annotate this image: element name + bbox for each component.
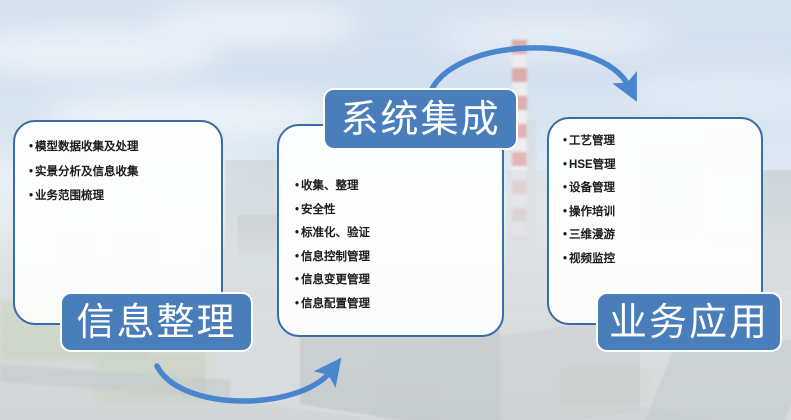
list-item: 视频监控 — [563, 254, 761, 266]
list-item: 操作培训 — [563, 207, 761, 219]
application-item-list: 工艺管理 HSE管理 设备管理 操作培训 三维漫游 视频监控 — [549, 119, 761, 265]
cloud-shape — [150, 8, 360, 42]
list-item: 三维漫游 — [563, 230, 761, 242]
list-item: 模型数据收集及处理 — [29, 142, 221, 154]
stage-banner-business-application: 业务应用 — [596, 292, 782, 352]
list-item: 信息配置管理 — [295, 299, 502, 311]
card-system-integration: 收集、整理 安全性 标准化、验证 信息控制管理 信息变更管理 信息配置管理 — [277, 124, 504, 337]
list-item: 工艺管理 — [563, 136, 761, 148]
cloud-shape — [620, 70, 791, 114]
list-item: 实景分析及信息收集 — [29, 167, 221, 179]
stage-banner-system-integration: 系统集成 — [323, 88, 518, 150]
stage-banner-information-organisation: 信息整理 — [60, 292, 253, 352]
list-item: 收集、整理 — [295, 181, 502, 193]
list-item: 安全性 — [295, 205, 502, 217]
integration-item-list: 收集、整理 安全性 标准化、验证 信息控制管理 信息变更管理 信息配置管理 — [279, 126, 502, 310]
cloud-shape — [430, 18, 670, 56]
list-item: 业务范围梳理 — [29, 191, 221, 203]
organise-item-list: 模型数据收集及处理 实景分析及信息收集 业务范围梳理 — [15, 122, 221, 203]
list-item: 信息控制管理 — [295, 252, 502, 264]
list-item: 设备管理 — [563, 183, 761, 195]
list-item: 标准化、验证 — [295, 228, 502, 240]
list-item: HSE管理 — [563, 160, 761, 172]
diagram-canvas: 模型数据收集及处理 实景分析及信息收集 业务范围梳理 收集、整理 安全性 标准化… — [0, 0, 791, 420]
list-item: 信息变更管理 — [295, 275, 502, 287]
